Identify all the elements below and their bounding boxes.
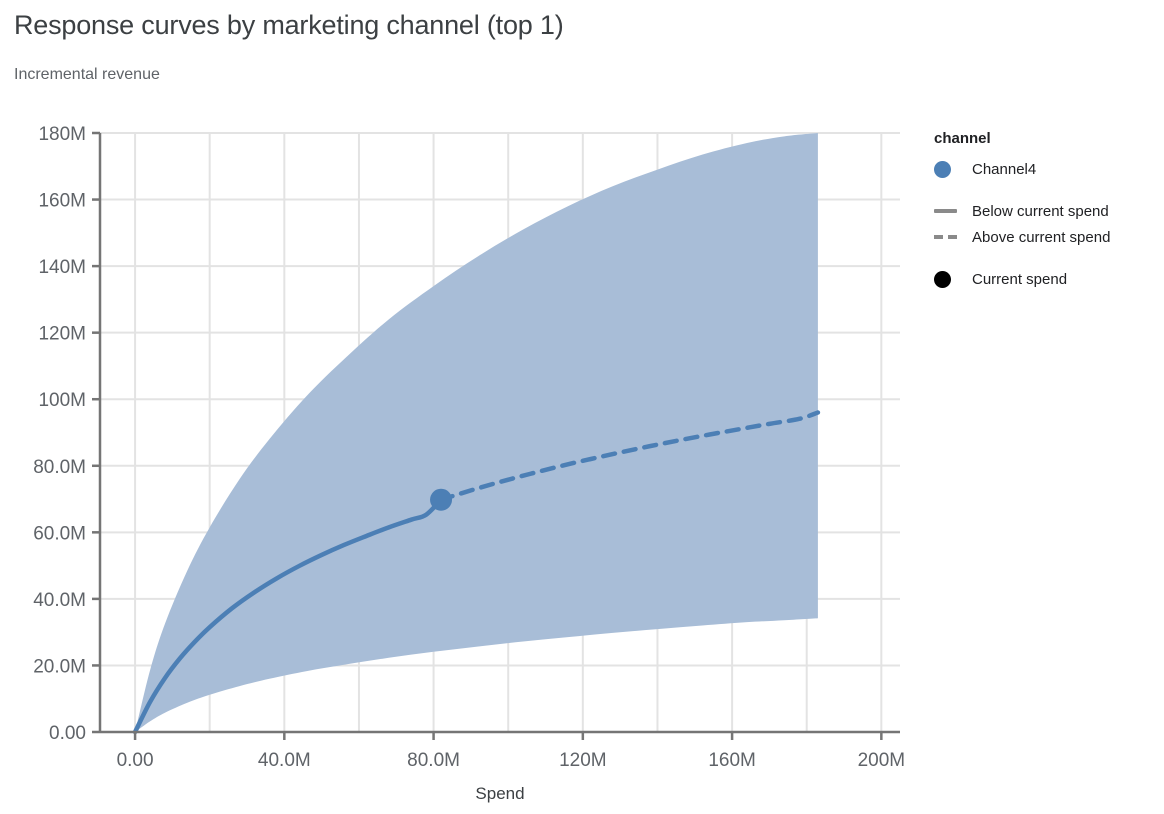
legend-item-channel4[interactable]: Channel4: [934, 157, 1162, 181]
legend-item-label: Current spend: [964, 271, 1067, 288]
y-tick-label: 120M: [38, 324, 86, 345]
circle-icon: [934, 268, 964, 290]
legend-item-label: Channel4: [964, 161, 1036, 178]
legend-item-current-spend[interactable]: Current spend: [934, 267, 1162, 291]
y-tick-label: 180M: [38, 124, 86, 145]
current-spend-marker: [430, 489, 452, 511]
x-tick-label: 160M: [708, 750, 756, 771]
x-tick-label: 120M: [559, 750, 607, 771]
x-tick-label: 200M: [858, 750, 906, 771]
y-tick-label: 40.0M: [33, 590, 86, 611]
x-axis-title: Spend: [475, 784, 524, 803]
y-tick-label: 20.0M: [33, 656, 86, 677]
circle-icon: [934, 158, 964, 180]
solid-line-icon: [934, 200, 964, 222]
legend-item-below-current-spend[interactable]: Below current spend: [934, 199, 1162, 223]
y-tick-label: 60.0M: [33, 523, 86, 544]
y-tick-label: 0.00: [49, 723, 86, 744]
y-tick-label: 100M: [38, 390, 86, 411]
y-tick-label: 160M: [38, 191, 86, 212]
response-curve-chart: Response curves by marketing channel (to…: [0, 0, 1164, 814]
y-tick-label: 80.0M: [33, 457, 86, 478]
plot-area: 0.0020.0M40.0M60.0M80.0M100M120M140M160M…: [0, 0, 1164, 814]
legend-item-above-current-spend[interactable]: Above current spend: [934, 225, 1162, 249]
legend-title: channel: [934, 130, 1162, 147]
legend-item-label: Above current spend: [964, 229, 1110, 246]
plot-svg: 0.0020.0M40.0M60.0M80.0M100M120M140M160M…: [0, 0, 1164, 814]
x-tick-label: 0.00: [117, 750, 154, 771]
legend: channel Channel4 Below current spend: [934, 130, 1162, 309]
dashed-line-icon: [934, 226, 964, 248]
legend-group-channel: Channel4: [934, 157, 1162, 181]
legend-group-style: Below current spend Above current spend: [934, 199, 1162, 249]
x-tick-label: 80.0M: [407, 750, 460, 771]
x-tick-label: 40.0M: [258, 750, 311, 771]
legend-item-label: Below current spend: [964, 203, 1109, 220]
legend-group-point: Current spend: [934, 267, 1162, 291]
y-tick-label: 140M: [38, 257, 86, 278]
